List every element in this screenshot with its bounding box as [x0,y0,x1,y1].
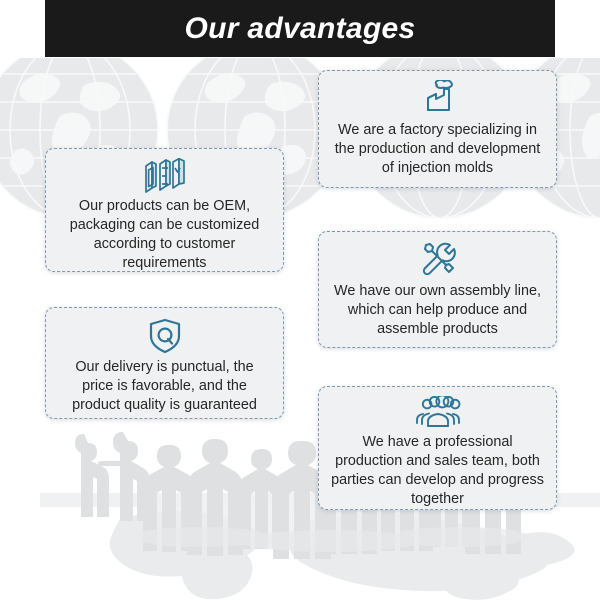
advantage-card-factory: We are a factory specializing in the pro… [318,70,557,188]
advantage-card-text: Our delivery is punctual, the price is f… [58,358,271,415]
advantage-card-text: We have a professional production and sa… [331,433,544,510]
advantage-card-text: Our products can be OEM, packaging can b… [58,197,271,274]
advantage-card-assembly: We have our own assembly line, which can… [318,231,557,348]
advantage-card-text: We have our own assembly line, which can… [331,282,544,339]
header-banner: Our advantages [45,0,555,57]
advantage-card-quality: Our delivery is punctual, the price is f… [45,307,284,419]
wrench-screwdriver-icon [415,241,461,279]
factory-icon [415,80,461,118]
team-people-icon [415,396,461,430]
advantage-card-team: We have a professional production and sa… [318,386,557,510]
advantage-card-text: We are a factory specializing in the pro… [331,121,544,178]
advantages-infographic: Our advantages We are a factory speciali… [0,0,600,600]
advantage-card-oem: Our products can be OEM, packaging can b… [45,148,284,272]
oem-3d-letters-icon [142,158,188,194]
page-title: Our advantages [185,12,416,46]
shield-quality-icon [142,317,188,355]
